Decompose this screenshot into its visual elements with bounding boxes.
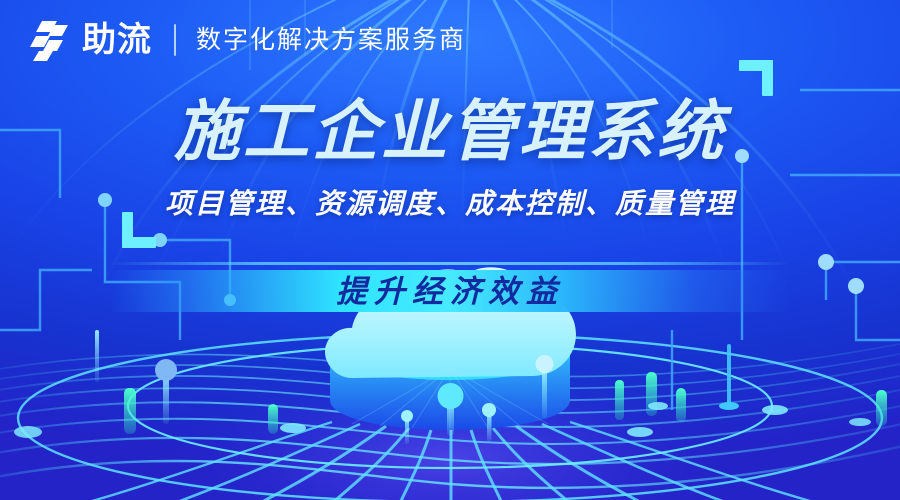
marketing-banner: 助流 数字化解决方案服务商 施工企业管理系统 项目管理、资源调度、成本控制、质量… bbox=[0, 0, 900, 500]
logo-text: 助流 bbox=[82, 19, 152, 61]
lightning-bolt-logo-icon bbox=[30, 19, 76, 61]
ground-wave-lines bbox=[0, 340, 900, 488]
header-divider bbox=[174, 24, 176, 56]
data-bars bbox=[124, 372, 887, 434]
center-glow bbox=[110, 310, 790, 500]
highlight-text: 提升经济效益 bbox=[0, 262, 900, 314]
brand-tagline: 数字化解决方案服务商 bbox=[196, 19, 466, 61]
orbit-ring bbox=[18, 334, 882, 500]
pin-markers bbox=[95, 330, 739, 444]
brand-header: 助流 数字化解决方案服务商 bbox=[30, 14, 466, 66]
node-dots bbox=[14, 402, 871, 438]
page-subtitle: 项目管理、资源调度、成本控制、质量管理 bbox=[0, 182, 900, 222]
cloud-light-rays bbox=[352, 368, 548, 428]
bracket-horizontal-bar bbox=[122, 237, 156, 248]
page-title: 施工企业管理系统 bbox=[0, 78, 900, 174]
ground-radial-ribs bbox=[20, 422, 882, 500]
